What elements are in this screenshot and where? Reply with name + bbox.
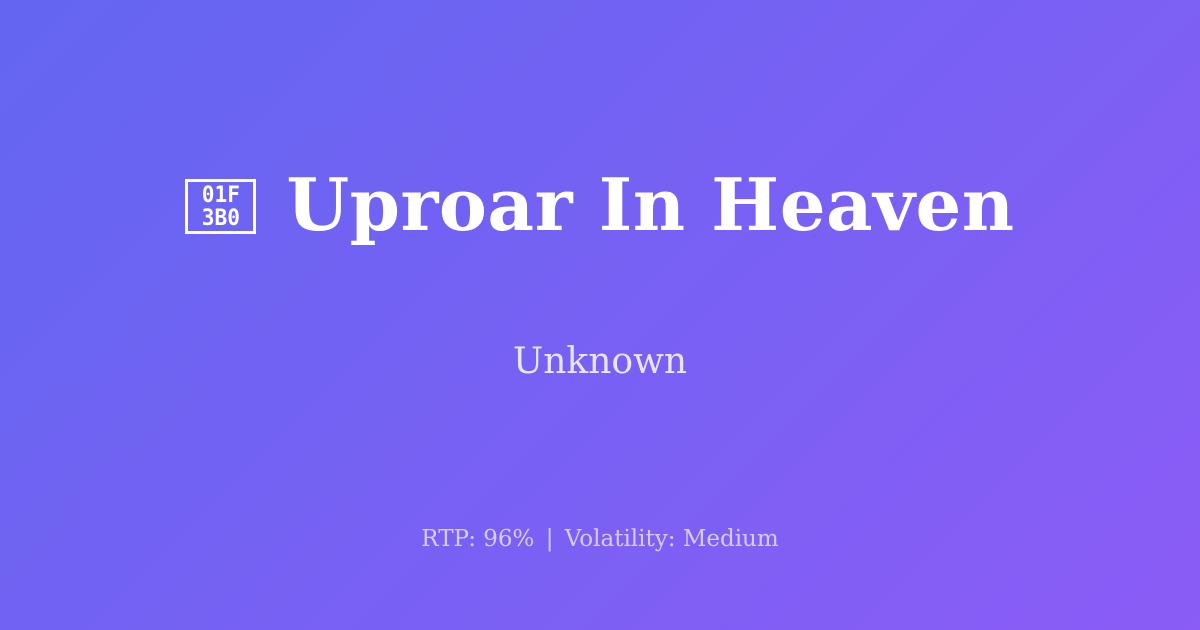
- rtp-value: 96%: [483, 526, 534, 552]
- game-title: Uproar In Heaven: [286, 169, 1014, 241]
- meta-separator: |: [542, 526, 558, 552]
- slot-machine-icon: 01F 3B0: [185, 179, 256, 234]
- hero-block: 01F 3B0 Uproar In Heaven Unknown: [0, 0, 1200, 500]
- game-provider: Unknown: [513, 344, 687, 380]
- rtp-label: RTP:: [421, 526, 476, 552]
- volatility-value: Medium: [683, 526, 779, 552]
- volatility-label: Volatility:: [565, 526, 676, 552]
- slot-machine-icon-codepoint-high: 01F: [202, 184, 240, 207]
- game-og-card: 01F 3B0 Uproar In Heaven Unknown RTP: 96…: [0, 0, 1200, 630]
- title-row: 01F 3B0 Uproar In Heaven: [185, 120, 1014, 288]
- slot-machine-icon-codepoint-low: 3B0: [202, 207, 240, 230]
- game-meta-line: RTP: 96% | Volatility: Medium: [0, 528, 1200, 551]
